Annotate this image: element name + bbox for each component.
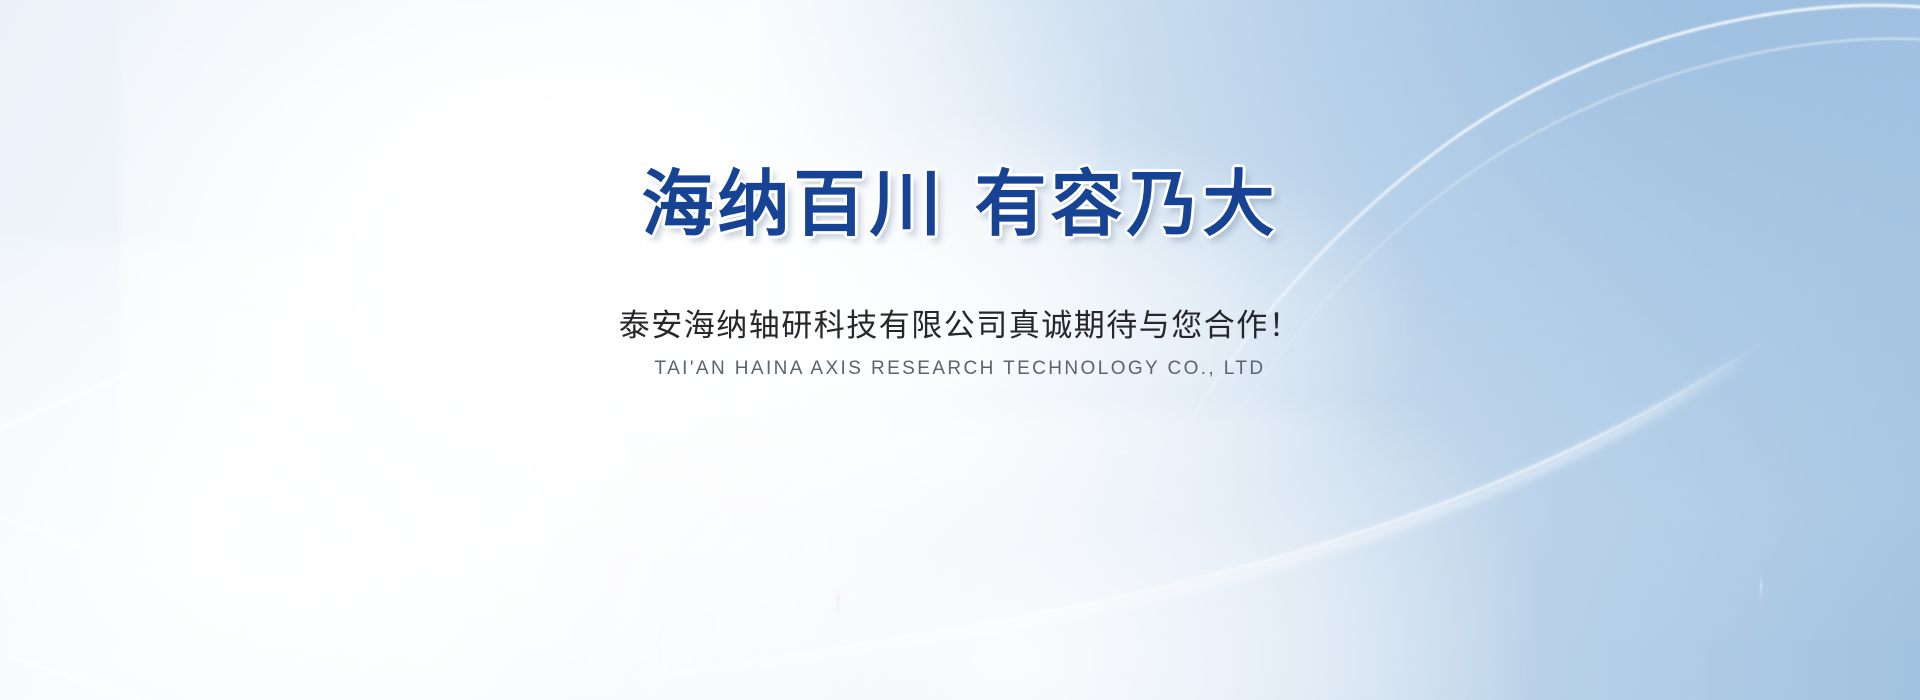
banner-english-subtitle: TAI'AN HAINA AXIS RESEARCH TECHNOLOGY CO… (655, 358, 1266, 380)
hero-banner: 海纳百川 有容乃大 泰安海纳轴研科技有限公司真诚期待与您合作！ TAI'AN H… (0, 0, 1920, 700)
banner-subtitle: 泰安海纳轴研科技有限公司真诚期待与您合作！ (619, 300, 1302, 345)
banner-headline: 海纳百川 有容乃大 (641, 168, 1278, 240)
banner-content: 海纳百川 有容乃大 泰安海纳轴研科技有限公司真诚期待与您合作！ TAI'AN H… (0, 0, 1920, 700)
